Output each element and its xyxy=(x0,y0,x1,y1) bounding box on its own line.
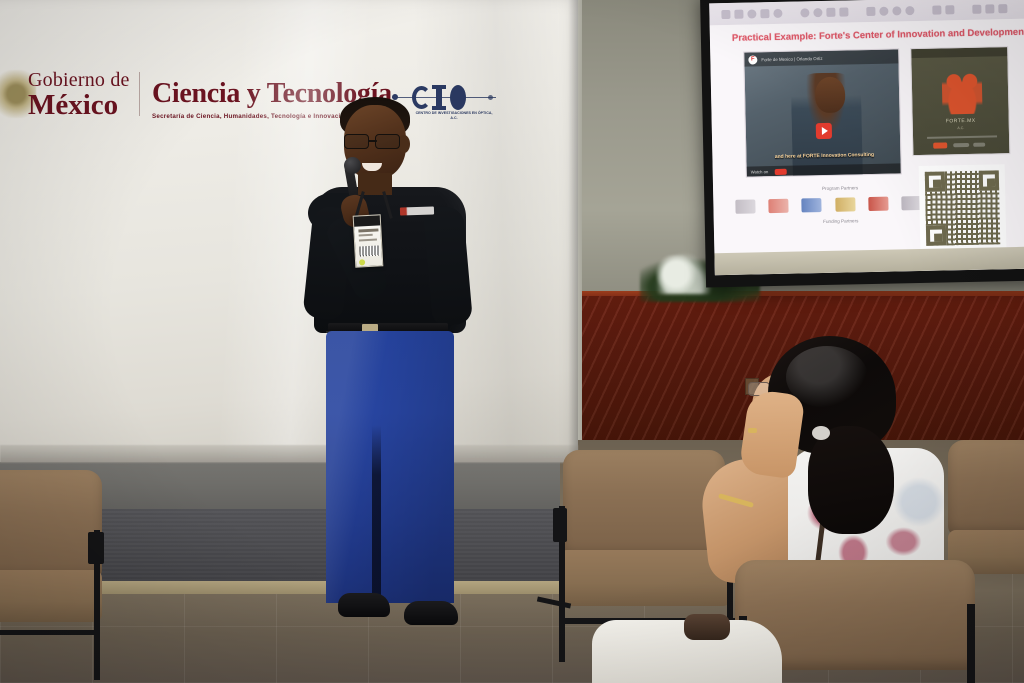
channel-avatar: F xyxy=(748,55,757,64)
microphone-icon xyxy=(344,157,361,174)
link-icon[interactable] xyxy=(972,4,981,13)
attendee-ponytail xyxy=(808,426,894,534)
speaker-left-shoe xyxy=(338,593,390,617)
banner-bottom-edge xyxy=(0,445,578,463)
badge-header xyxy=(354,215,380,226)
zoom-icon[interactable] xyxy=(773,8,782,17)
video-title: Forte de Mexico | Orlando Ortiz xyxy=(761,55,822,61)
qr-finder-top-left xyxy=(925,171,945,191)
trouser-shading xyxy=(326,331,454,603)
badge-barcode xyxy=(359,245,379,256)
line-icon[interactable] xyxy=(813,7,822,16)
speaker-glasses xyxy=(342,134,408,150)
highlight-icon[interactable] xyxy=(945,5,954,14)
presentation-photo-scene: Gobierno de México Ciencia y Tecnología … xyxy=(0,0,1024,683)
screenshot-tertiary-cta[interactable] xyxy=(973,143,985,147)
speaker-presenter xyxy=(300,95,490,640)
projected-slide: Practical Example: Forte's Center of Inn… xyxy=(709,0,1024,275)
qr-code xyxy=(919,164,1007,252)
glasses-left-lens xyxy=(344,134,369,149)
embedded-video[interactable]: F Forte de Mexico | Orlando Ortiz and he… xyxy=(743,48,902,177)
print-icon[interactable] xyxy=(721,9,730,18)
text-color-icon[interactable] xyxy=(932,5,941,14)
undo-icon[interactable] xyxy=(760,9,769,18)
backdrop-banner: Gobierno de México Ciencia y Tecnología … xyxy=(0,0,578,462)
qr-finder-top-right xyxy=(979,170,999,190)
align-icon[interactable] xyxy=(998,4,1007,13)
chair-seat xyxy=(0,570,102,622)
chair-leg-right xyxy=(967,604,975,683)
screenshot-text-line xyxy=(927,135,997,138)
badge-org-line xyxy=(359,239,377,242)
program-partners-label: Program Partners xyxy=(785,184,895,191)
attendee-shoe xyxy=(684,614,730,640)
attendee-hand xyxy=(738,389,805,480)
presenter-badge xyxy=(353,214,384,267)
slide-canvas: Practical Example: Forte's Center of Inn… xyxy=(710,19,1024,276)
chair-backrest xyxy=(0,470,102,580)
font-icon[interactable] xyxy=(866,6,875,15)
glasses-right-lens xyxy=(375,134,400,149)
screenshot-secondary-cta[interactable] xyxy=(953,143,969,147)
youtube-icon[interactable] xyxy=(775,168,787,174)
partner-logo-3 xyxy=(802,198,822,212)
chair-leg-left xyxy=(559,506,565,662)
partner-logo-2 xyxy=(768,199,788,213)
font-size-icon[interactable] xyxy=(879,6,888,15)
gobierno-line1: Gobierno de xyxy=(28,70,130,90)
bold-icon[interactable] xyxy=(892,6,901,15)
star-icon[interactable] xyxy=(734,9,743,18)
video-subject-head xyxy=(815,77,846,114)
slide-title: Practical Example: Forte's Center of Inn… xyxy=(732,27,1022,44)
paint-format-icon[interactable] xyxy=(747,9,756,18)
white-flowers xyxy=(653,255,699,293)
jacket-forte-logo xyxy=(400,206,434,215)
attendee-ring xyxy=(748,428,757,433)
logo-divider xyxy=(139,72,140,116)
chair-left xyxy=(0,470,120,683)
screenshot-brand-sub: A.C. xyxy=(913,125,1009,131)
screenshot-primary-cta[interactable] xyxy=(933,142,947,148)
screenshot-navbar xyxy=(911,47,1007,58)
screenshot-brand-text: FORTE.MX xyxy=(913,117,1009,125)
video-controls-bar[interactable] xyxy=(747,163,901,176)
watch-on-label: Watch on xyxy=(751,169,769,174)
projector-screen-frame: Practical Example: Forte's Center of Inn… xyxy=(700,0,1024,287)
partner-logo-row xyxy=(735,193,921,217)
gobierno-de-mexico-logo: Gobierno de México xyxy=(28,70,130,120)
shape-icon[interactable] xyxy=(826,7,835,16)
funding-partners-label: Funding Partners xyxy=(786,217,896,224)
play-icon[interactable] xyxy=(816,123,832,139)
badge-color-dot xyxy=(359,259,365,265)
qr-code-pattern xyxy=(925,170,1001,246)
attendee-hair-tie xyxy=(812,426,830,440)
badge-name-line xyxy=(358,228,378,232)
italic-icon[interactable] xyxy=(905,6,914,15)
slide-bottom-band xyxy=(714,247,1024,276)
partner-logo-4 xyxy=(835,197,855,211)
speaker-right-shoe xyxy=(404,601,458,625)
chair-leg-front xyxy=(94,530,100,680)
chair-leg-rail xyxy=(0,630,100,635)
text-box-icon[interactable] xyxy=(839,7,848,16)
website-screenshot: FORTE.MX A.C. xyxy=(910,46,1010,156)
gobierno-line2: México xyxy=(28,91,130,120)
video-header: F Forte de Mexico | Orlando Ortiz xyxy=(744,49,898,66)
comment-icon[interactable] xyxy=(985,4,994,13)
qr-finder-bottom-left xyxy=(926,225,946,245)
select-icon[interactable] xyxy=(800,8,809,17)
forte-brand-glyph xyxy=(942,72,983,115)
partner-logo-5 xyxy=(868,197,888,211)
partner-logo-1 xyxy=(735,199,755,213)
badge-role-line xyxy=(359,234,373,237)
